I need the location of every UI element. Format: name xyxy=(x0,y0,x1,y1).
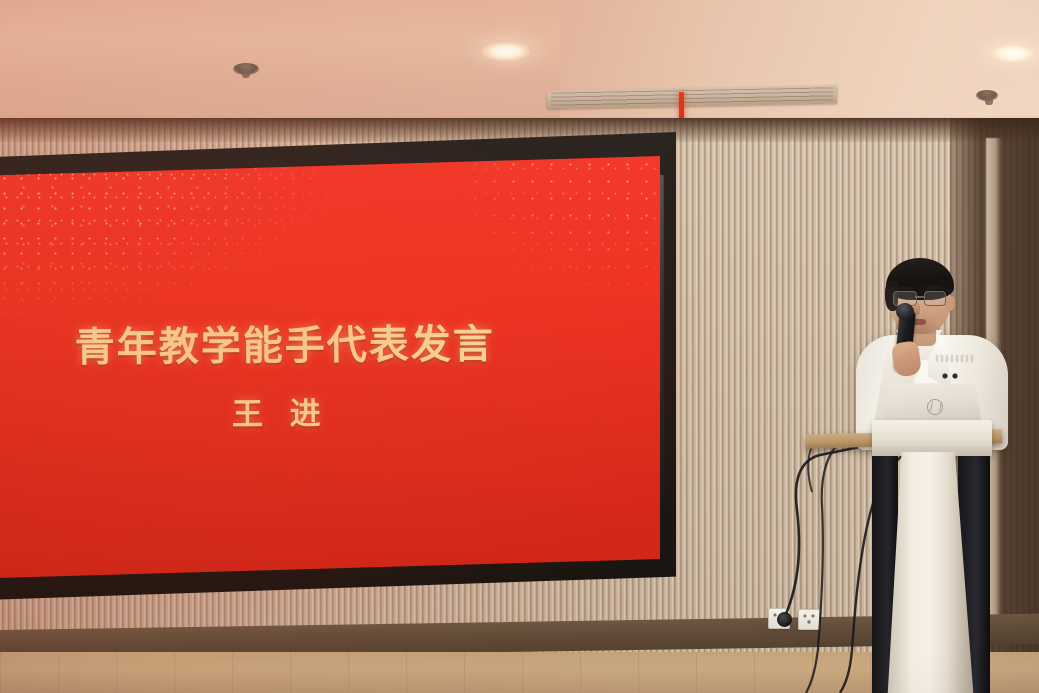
eyeglass-lens-right xyxy=(924,291,946,306)
led-screen-assembly[interactable]: 青年教学能手代表发言 王 进 xyxy=(0,132,684,602)
confetti-texture-right xyxy=(466,156,660,306)
outlet-holes xyxy=(802,614,816,624)
speaker-eyebrow-right xyxy=(926,286,942,289)
coat-pocket-pens xyxy=(941,372,961,381)
coat-embroidery xyxy=(936,355,974,362)
wall-outlet-2[interactable] xyxy=(798,609,820,630)
screen-display-area[interactable]: 青年教学能手代表发言 王 进 xyxy=(0,156,660,578)
slide-title: 青年教学能手代表发言 xyxy=(0,321,660,371)
confetti-texture-left xyxy=(0,156,376,336)
downlight-right xyxy=(990,44,1036,63)
slide-subtitle: 王 进 xyxy=(0,385,660,436)
vent-louvers xyxy=(551,87,833,106)
slide-text-block: 青年教学能手代表发言 王 进 xyxy=(0,321,660,435)
sprinkler-head-left xyxy=(233,63,259,75)
eyeglass-bridge xyxy=(915,296,924,298)
downlight-left xyxy=(482,42,530,61)
power-plug[interactable] xyxy=(777,612,792,627)
photo-scene: 青年教学能手代表发言 王 进 xyxy=(0,0,1039,693)
speaker-eyebrow-left xyxy=(897,287,913,290)
hp-logo-icon xyxy=(927,399,943,415)
sprinkler-head-right xyxy=(976,90,998,101)
